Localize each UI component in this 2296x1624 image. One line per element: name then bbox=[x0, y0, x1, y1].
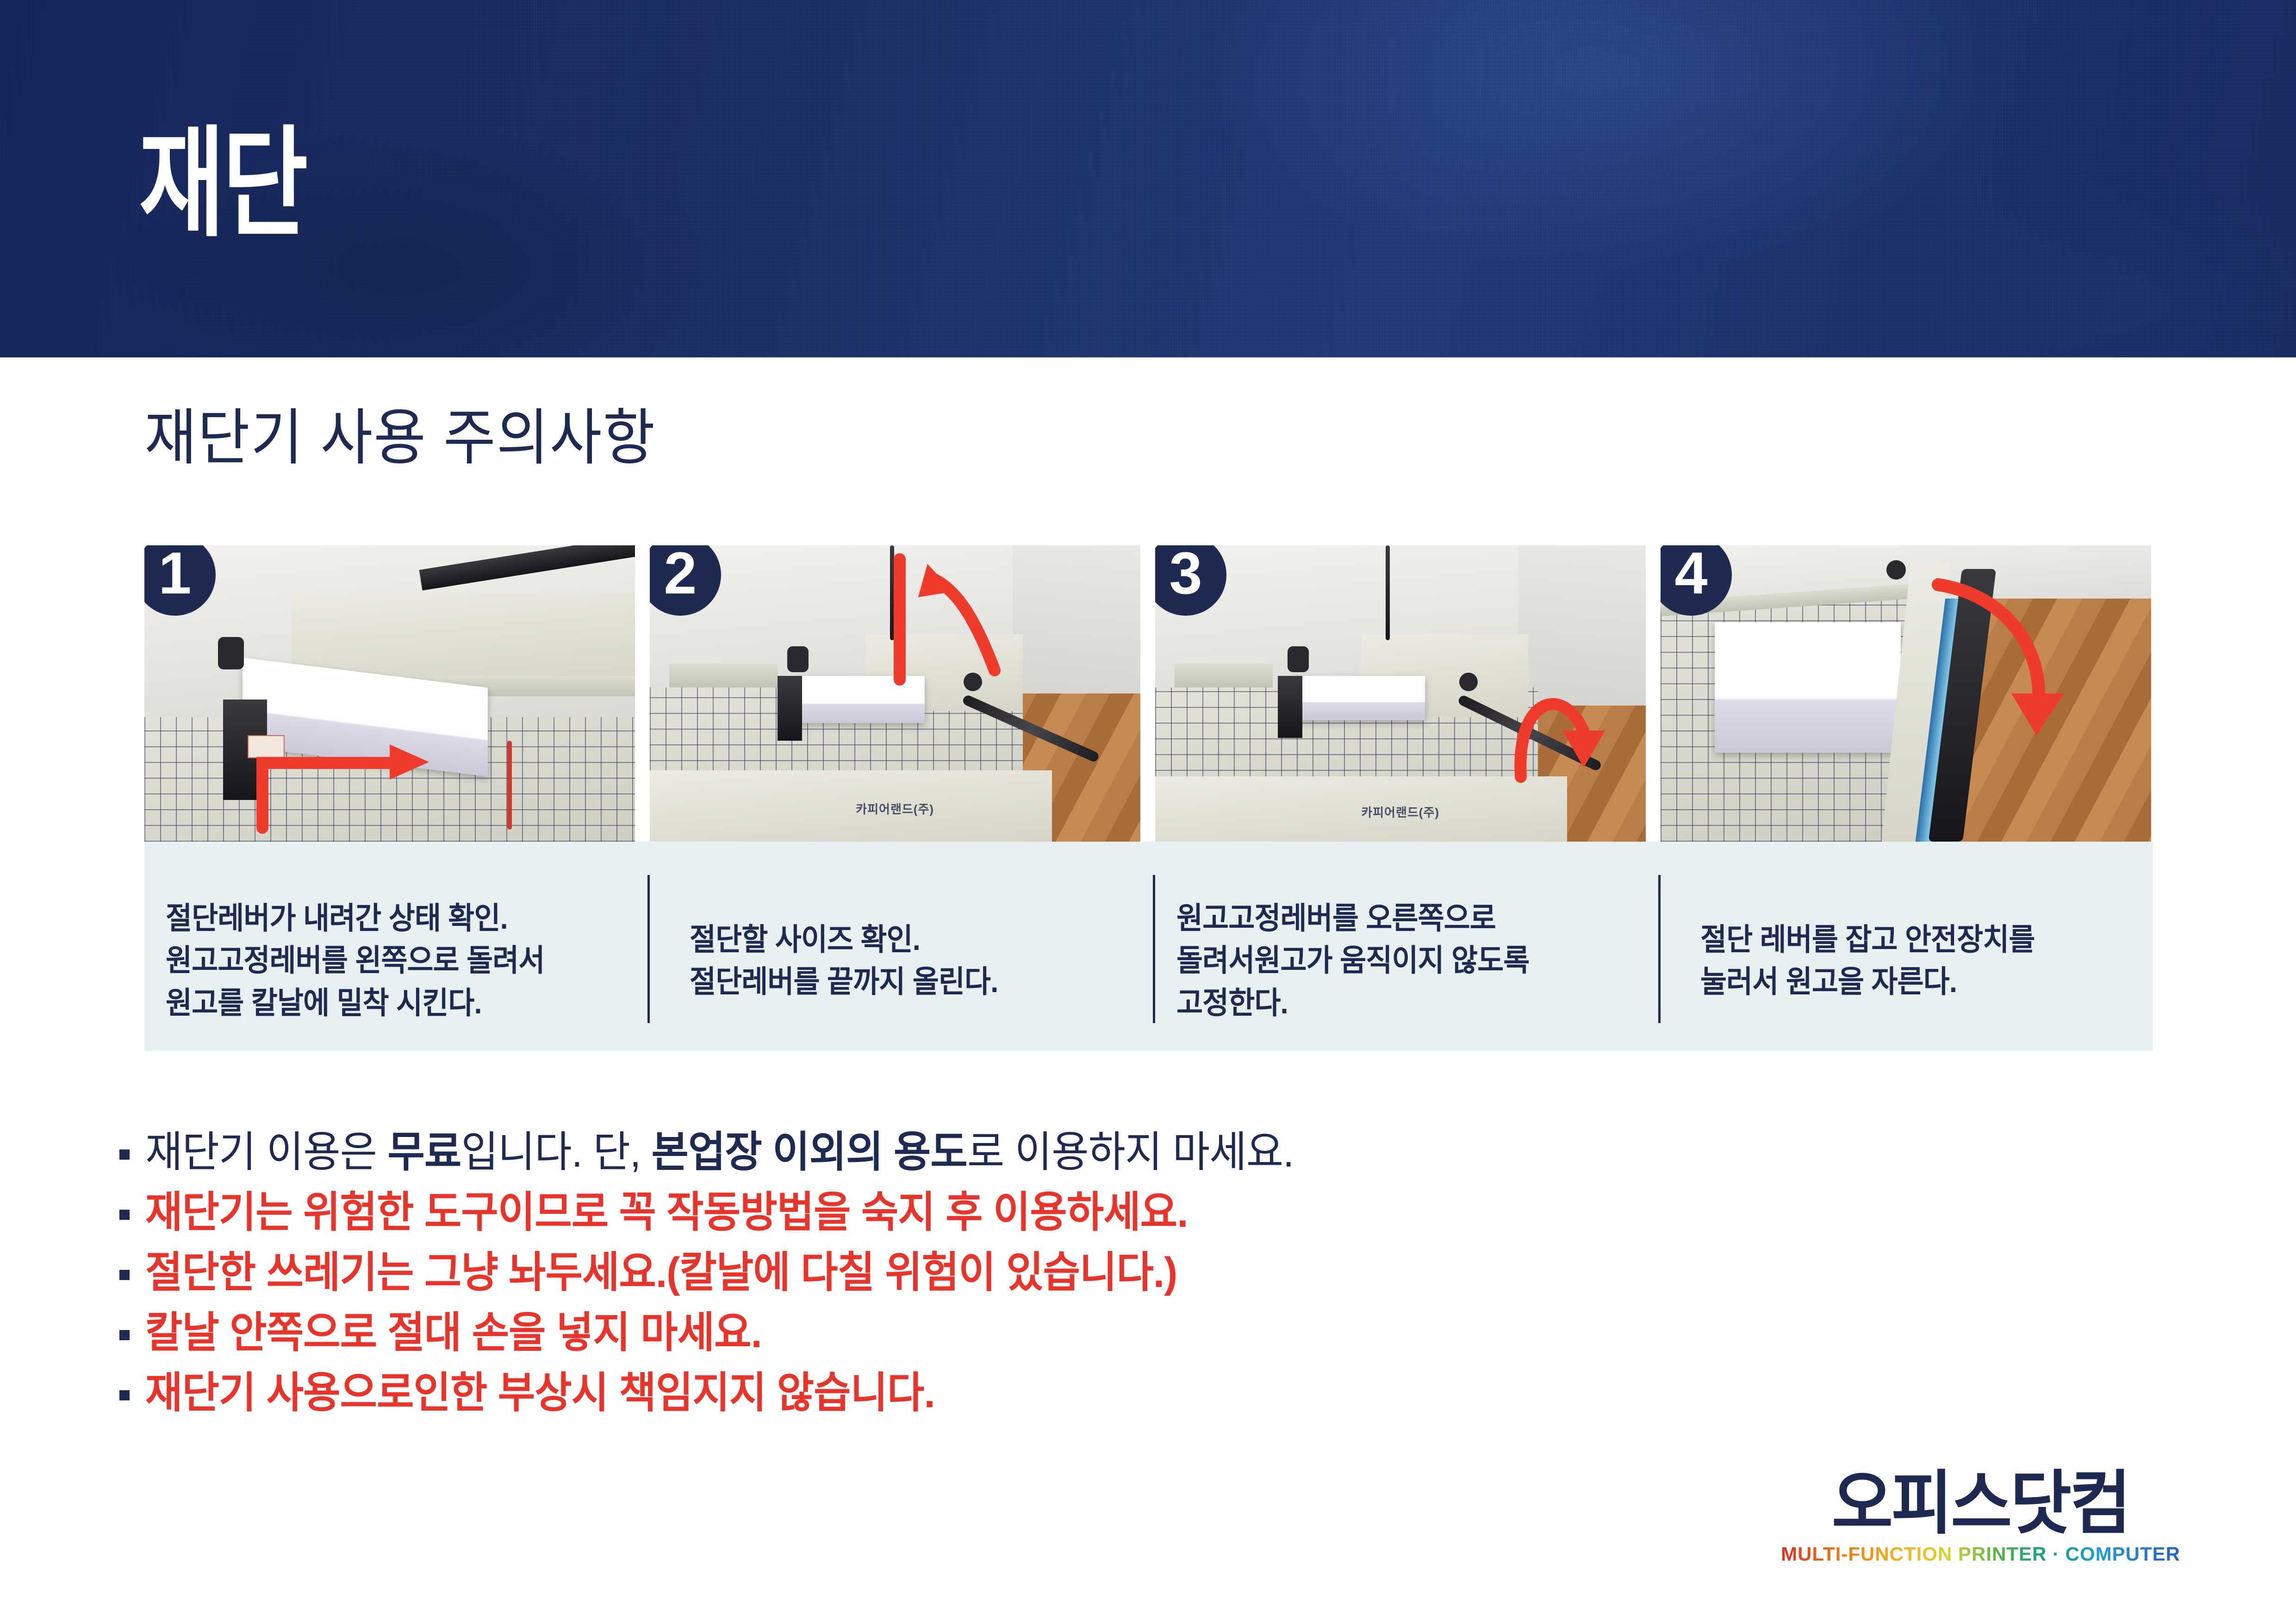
notice-text-3: 절단한 쓰레기는 그냥 놔두세요.(칼날에 다칠 위험이 있습니다.) bbox=[145, 1251, 1177, 1294]
caption-cell-1: 절단레버가 내려간 상태 확인. 원고고정레버를 왼쪽으로 돌려서 원고를 칼날… bbox=[144, 842, 650, 1051]
caption-3-line-1: 원고고정레버를 오른쪽으로 bbox=[1176, 897, 1617, 939]
caption-1-line-3: 원고를 칼날에 밀착 시킨다. bbox=[166, 982, 606, 1024]
section-subtitle: 재단기 사용 주의사항 bbox=[144, 407, 656, 468]
caption-4-line-2: 눌러서 원고을 자른다. bbox=[1700, 961, 2123, 1003]
caption-2-line-2: 절단레버를 끝까지 올린다. bbox=[690, 961, 1113, 1003]
page-title: 재단 bbox=[139, 124, 306, 244]
caption-1-line-2: 원고고정레버를 왼쪽으로 돌려서 bbox=[166, 939, 606, 981]
caption-2-line-1: 절단할 사이즈 확인. bbox=[690, 918, 1113, 961]
header-texture bbox=[0, 0, 2296, 357]
notice-text-1: 재단기 이용은 무료입니다. 단, 본업장 이외의 용도로 이용하지 마세요. bbox=[145, 1131, 1294, 1174]
red-arrow-4 bbox=[1661, 545, 2151, 842]
caption-4-line-1: 절단 레버를 잡고 안전장치를 bbox=[1700, 918, 2123, 961]
caption-1-line-1: 절단레버가 내려간 상태 확인. bbox=[166, 897, 606, 939]
notice-text-5: 재단기 사용으로인한 부상시 책임지지 않습니다. bbox=[145, 1372, 935, 1414]
bullet-icon bbox=[119, 1390, 130, 1400]
logo-tagline: MULTI-FUNCTION PRINTER · COMPUTER bbox=[1781, 1544, 2180, 1564]
bullet-icon bbox=[119, 1149, 130, 1160]
notice-text-4: 칼날 안쪽으로 절대 손을 넣지 마세요. bbox=[145, 1312, 762, 1354]
red-arrow-3 bbox=[1155, 545, 1646, 842]
notice-row-3: 절단한 쓰레기는 그냥 놔두세요.(칼날에 다칠 위험이 있습니다.) bbox=[119, 1243, 2063, 1303]
bullet-icon bbox=[119, 1270, 130, 1280]
bullet-icon bbox=[119, 1210, 130, 1220]
notice-list: 재단기 이용은 무료입니다. 단, 본업장 이외의 용도로 이용하지 마세요. … bbox=[119, 1122, 2063, 1423]
caption-cell-2: 절단할 사이즈 확인. 절단레버를 끝까지 올린다. bbox=[650, 842, 1155, 1051]
logo-wordmark: 오피스닷컴 bbox=[1789, 1468, 2172, 1538]
photo-scene-3: 카피어랜드(주) bbox=[1155, 545, 1646, 842]
notice-row-2: 재단기는 위험한 도구이므로 꼭 작동방법을 숙지 후 이용하세요. bbox=[119, 1182, 2063, 1243]
caption-3-line-2: 돌려서원고가 움직이지 않도록 bbox=[1176, 939, 1617, 981]
photo-scene-1 bbox=[144, 545, 635, 842]
photo-scene-4 bbox=[1661, 545, 2151, 842]
notice-row-4: 칼날 안쪽으로 절대 손을 넣지 마세요. bbox=[119, 1303, 2063, 1363]
step-photo-3: 카피어랜드(주) 3 bbox=[1155, 545, 1646, 842]
caption-3-line-3: 고정한다. bbox=[1176, 982, 1617, 1024]
notice-row-5: 재단기 사용으로인한 부상시 책임지지 않습니다. bbox=[119, 1363, 2063, 1423]
caption-band: 절단레버가 내려간 상태 확인. 원고고정레버를 왼쪽으로 돌려서 원고를 칼날… bbox=[144, 842, 2153, 1051]
caption-cell-4: 절단 레버를 잡고 안전장치를 눌러서 원고을 자른다. bbox=[1661, 842, 2166, 1051]
bullet-icon bbox=[119, 1330, 130, 1340]
caption-cell-3: 원고고정레버를 오른쪽으로 돌려서원고가 움직이지 않도록 고정한다. bbox=[1155, 842, 1661, 1051]
step-photo-row: 1 카피어랜드(주) 2 bbox=[144, 545, 2153, 842]
step-photo-4: 4 bbox=[1661, 545, 2151, 842]
red-arrow-2 bbox=[650, 545, 1140, 842]
brand-logo: 오피스닷컴 MULTI-FUNCTION PRINTER · COMPUTER bbox=[1781, 1468, 2180, 1564]
red-arrow-1 bbox=[144, 545, 635, 842]
photo-scene-2: 카피어랜드(주) bbox=[650, 545, 1140, 842]
step-photo-2: 카피어랜드(주) 2 bbox=[650, 545, 1140, 842]
header-band: 재단 bbox=[0, 0, 2296, 357]
notice-row-1: 재단기 이용은 무료입니다. 단, 본업장 이외의 용도로 이용하지 마세요. bbox=[119, 1122, 2063, 1182]
step-photo-1: 1 bbox=[144, 545, 635, 842]
notice-text-2: 재단기는 위험한 도구이므로 꼭 작동방법을 숙지 후 이용하세요. bbox=[145, 1191, 1188, 1234]
